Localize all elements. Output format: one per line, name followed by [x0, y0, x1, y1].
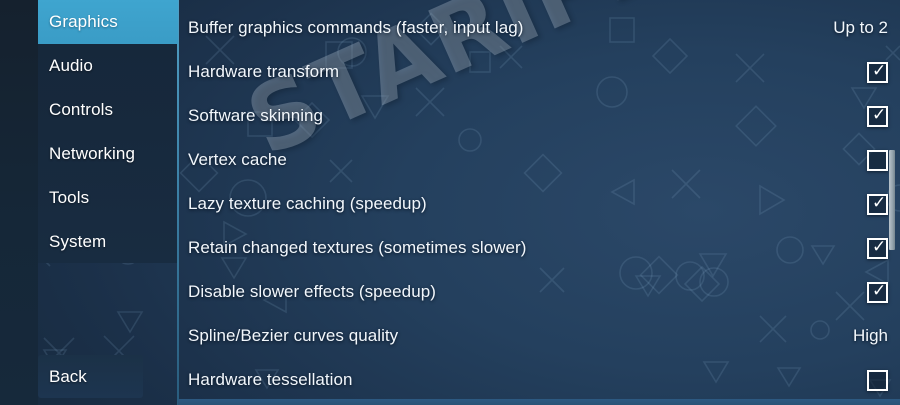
setting-label: Buffer graphics commands (faster, input …	[188, 18, 523, 38]
setting-row-buffer-graphics-commands[interactable]: Buffer graphics commands (faster, input …	[188, 6, 888, 50]
sidebar-item-controls[interactable]: Controls	[38, 88, 178, 132]
setting-label: Lazy texture caching (speedup)	[188, 194, 427, 214]
checkmark-glyph: ✓	[872, 106, 885, 119]
checkmark-glyph: ✓	[872, 194, 885, 207]
settings-list: Buffer graphics commands (faster, input …	[180, 0, 900, 405]
sidebar-item-label: Networking	[49, 144, 135, 164]
sidebar-item-system[interactable]: System	[38, 220, 178, 264]
checkbox-checked-icon[interactable]: ✓	[867, 106, 888, 127]
sidebar-item-label: System	[49, 232, 106, 252]
sidebar-item-label: Tools	[49, 188, 89, 208]
sidebar-item-label: Audio	[49, 56, 93, 76]
sidebar-item-label: Controls	[49, 100, 113, 120]
sidebar-item-graphics[interactable]: Graphics	[38, 0, 178, 44]
setting-label: Hardware tessellation	[188, 370, 353, 390]
checkmark-glyph: ✓	[872, 62, 885, 75]
checkmark-glyph: ✓	[872, 238, 885, 251]
setting-label: Disable slower effects (speedup)	[188, 282, 436, 302]
scrollbar-thumb[interactable]	[889, 150, 895, 250]
left-edge-rail	[0, 0, 38, 405]
back-button[interactable]: Back	[38, 355, 143, 398]
bottom-accent-band	[178, 399, 900, 405]
setting-row-software-skinning[interactable]: Software skinning ✓	[188, 94, 888, 138]
setting-row-disable-slower-effects[interactable]: Disable slower effects (speedup) ✓	[188, 270, 888, 314]
setting-row-lazy-texture-caching[interactable]: Lazy texture caching (speedup) ✓	[188, 182, 888, 226]
setting-row-hardware-transform[interactable]: Hardware transform ✓	[188, 50, 888, 94]
checkmark-glyph: ✓	[872, 282, 885, 295]
setting-label: Spline/Bezier curves quality	[188, 326, 398, 346]
settings-screen: STARIPHONE Graphics Audio Controls Netwo…	[0, 0, 900, 405]
setting-label: Retain changed textures (sometimes slowe…	[188, 238, 526, 258]
back-button-label: Back	[49, 367, 87, 387]
setting-row-hardware-tessellation[interactable]: Hardware tessellation	[188, 358, 888, 402]
checkbox-checked-icon[interactable]: ✓	[867, 282, 888, 303]
setting-label: Software skinning	[188, 106, 323, 126]
setting-value: High	[853, 326, 888, 346]
setting-label: Hardware transform	[188, 62, 339, 82]
checkbox-unchecked-icon[interactable]	[867, 150, 888, 171]
checkbox-unchecked-icon[interactable]	[867, 370, 888, 391]
sidebar-item-audio[interactable]: Audio	[38, 44, 178, 88]
setting-label: Vertex cache	[188, 150, 287, 170]
setting-row-retain-changed-textures[interactable]: Retain changed textures (sometimes slowe…	[188, 226, 888, 270]
checkbox-checked-icon[interactable]: ✓	[867, 194, 888, 215]
setting-value: Up to 2	[833, 18, 888, 38]
sidebar-item-tools[interactable]: Tools	[38, 176, 178, 220]
checkbox-checked-icon[interactable]: ✓	[867, 62, 888, 83]
sidebar-item-networking[interactable]: Networking	[38, 132, 178, 176]
checkbox-checked-icon[interactable]: ✓	[867, 238, 888, 259]
setting-row-spline-bezier-quality[interactable]: Spline/Bezier curves quality High	[188, 314, 888, 358]
sidebar-item-label: Graphics	[49, 12, 118, 32]
setting-row-vertex-cache[interactable]: Vertex cache	[188, 138, 888, 182]
